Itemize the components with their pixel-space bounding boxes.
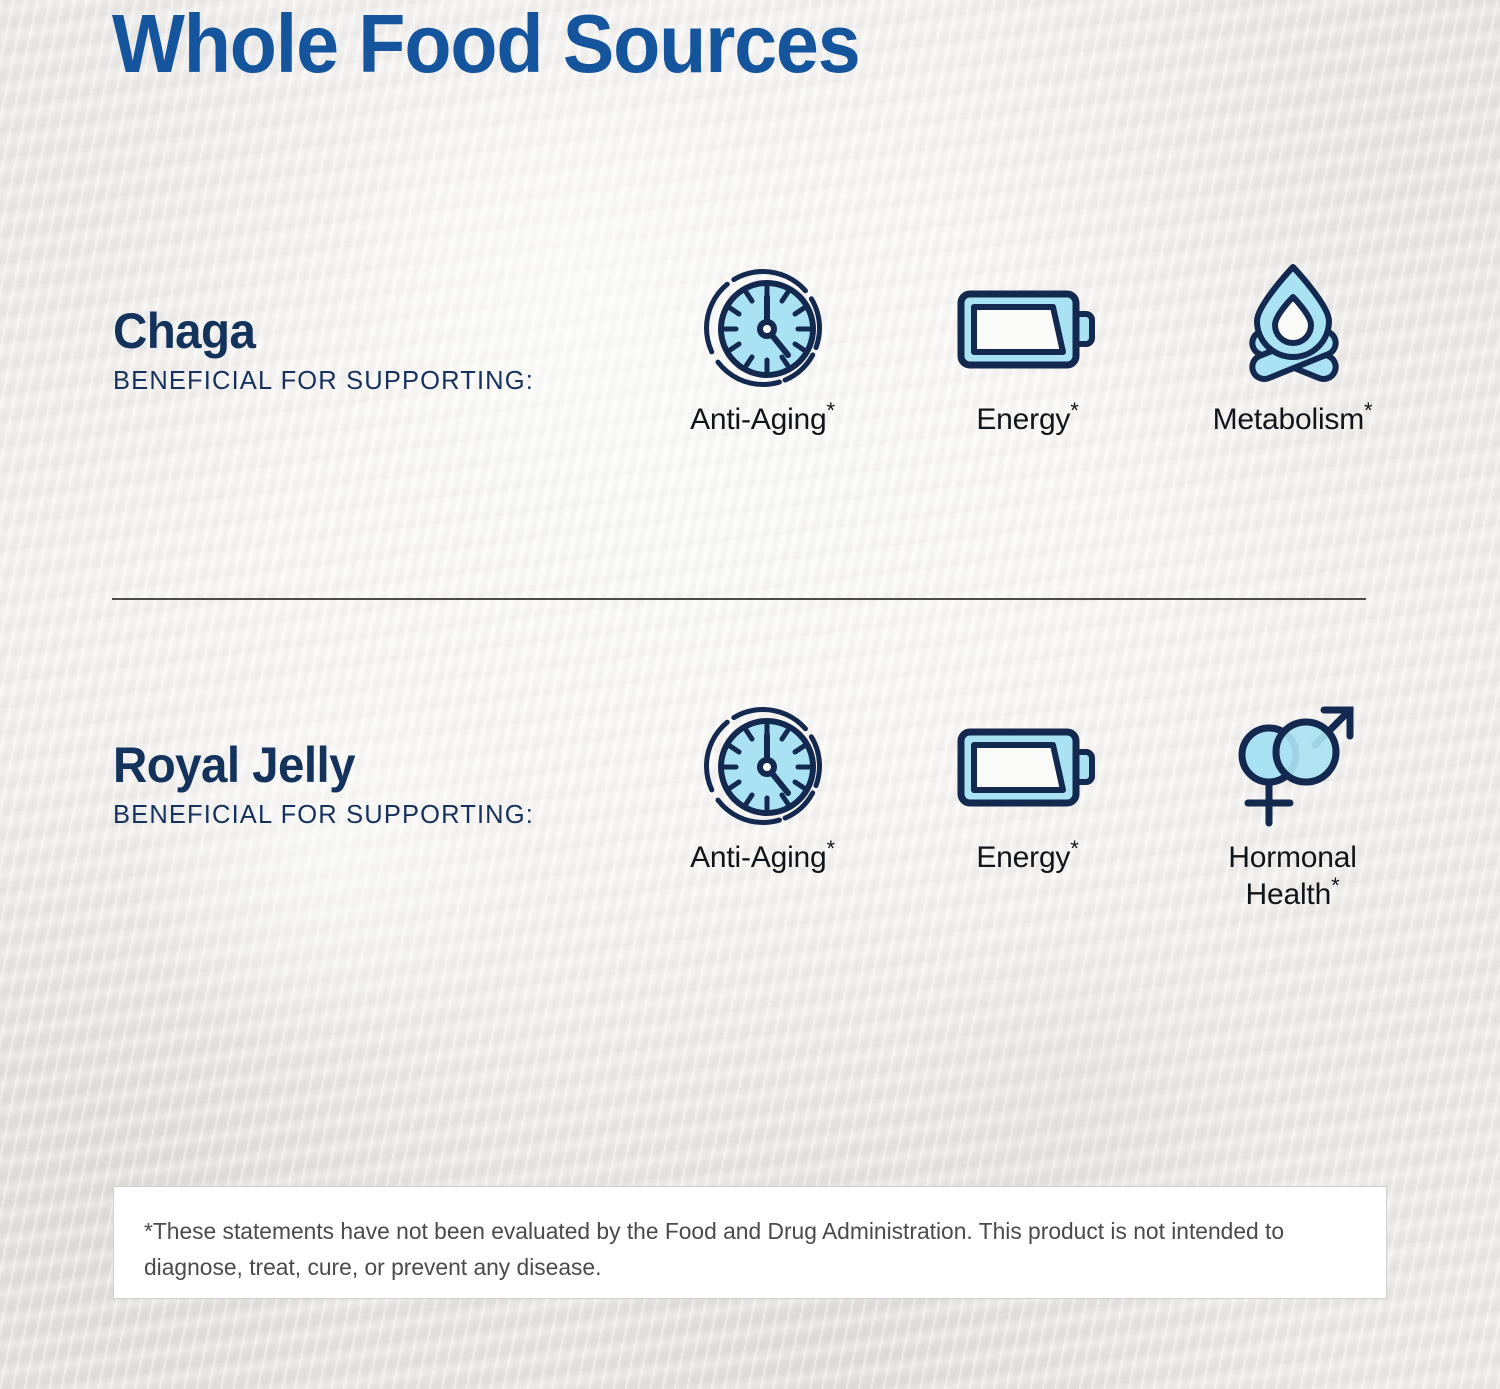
benefit-anti-aging[interactable]: Anti-Aging* xyxy=(630,700,895,877)
benefit-energy[interactable]: Energy* xyxy=(895,262,1160,439)
benefit-label-text: Energy xyxy=(976,403,1070,436)
disclaimer-box: *These statements have not been evaluate… xyxy=(113,1186,1387,1299)
campfire-icon xyxy=(1225,262,1361,392)
benefit-label: Anti-Aging* xyxy=(690,402,835,439)
gender-symbols-icon xyxy=(1223,700,1363,830)
benefit-label-line2: Health xyxy=(1246,878,1332,911)
clock-icon xyxy=(700,700,826,830)
section-royal-jelly-name: Royal Jelly xyxy=(113,740,607,791)
section-royal-jelly-benefits: Anti-Aging* Energy* xyxy=(630,700,1430,913)
section-chaga-benefits: Anti-Aging* Energy* xyxy=(630,262,1430,439)
benefit-label: Energy* xyxy=(976,840,1078,877)
footnote-asterisk: * xyxy=(827,398,835,423)
benefit-label-text: Anti-Aging xyxy=(690,841,826,874)
footnote-asterisk: * xyxy=(827,836,835,861)
footnote-asterisk: * xyxy=(1070,398,1078,423)
benefit-label: Hormonal Health* xyxy=(1228,840,1356,913)
benefit-energy[interactable]: Energy* xyxy=(895,700,1160,877)
section-chaga-name: Chaga xyxy=(113,306,607,357)
battery-icon xyxy=(953,700,1103,830)
clock-icon xyxy=(700,262,826,392)
benefit-hormonal-health[interactable]: Hormonal Health* xyxy=(1160,700,1425,913)
benefit-label: Metabolism* xyxy=(1213,402,1373,439)
benefit-metabolism[interactable]: Metabolism* xyxy=(1160,262,1425,439)
benefit-label-line1: Hormonal xyxy=(1228,840,1356,877)
page-content: Whole Food Sources Chaga BENEFICIAL FOR … xyxy=(0,0,1500,1389)
section-divider xyxy=(112,598,1366,600)
benefit-label-text: Metabolism xyxy=(1213,403,1364,436)
section-royal-jelly-subtitle: BENEFICIAL FOR SUPPORTING: xyxy=(113,801,633,830)
footnote-asterisk: * xyxy=(1331,873,1339,898)
section-chaga-label: Chaga BENEFICIAL FOR SUPPORTING: xyxy=(113,306,633,396)
benefit-label-text: Energy xyxy=(976,841,1070,874)
benefit-label: Energy* xyxy=(976,402,1078,439)
benefit-label-text: Anti-Aging xyxy=(690,403,826,436)
benefit-anti-aging[interactable]: Anti-Aging* xyxy=(630,262,895,439)
benefit-label: Anti-Aging* xyxy=(690,840,835,877)
footnote-asterisk: * xyxy=(1070,836,1078,861)
footnote-asterisk: * xyxy=(1364,398,1372,423)
section-royal-jelly-label: Royal Jelly BENEFICIAL FOR SUPPORTING: xyxy=(113,740,633,830)
battery-icon xyxy=(953,262,1103,392)
disclaimer-text: *These statements have not been evaluate… xyxy=(144,1213,1320,1286)
page-title: Whole Food Sources xyxy=(112,0,860,92)
section-chaga-subtitle: BENEFICIAL FOR SUPPORTING: xyxy=(113,367,633,396)
